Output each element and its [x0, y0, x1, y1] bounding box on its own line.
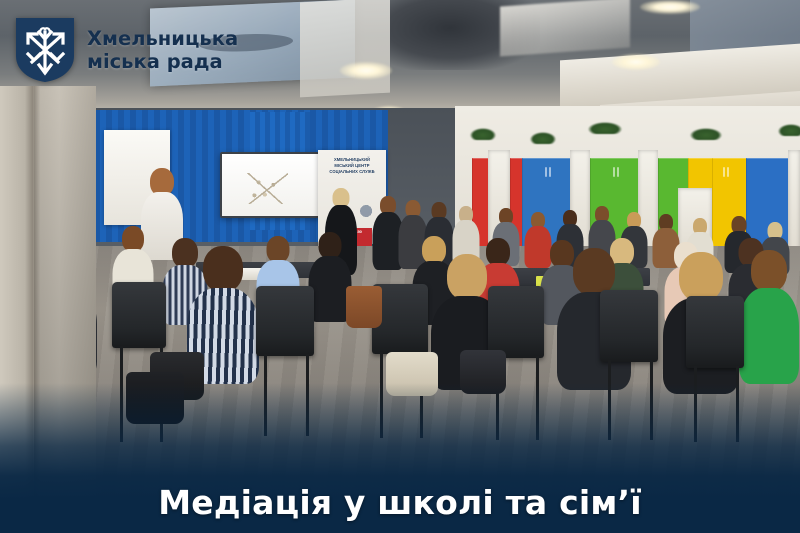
brand-name-line2: міська рада: [87, 50, 238, 73]
door-frame: [0, 86, 96, 533]
plant-icon: [530, 132, 556, 144]
ceiling-light-icon: [340, 62, 392, 79]
handbag-brown: [346, 286, 382, 328]
ceiling-light-icon: [640, 0, 700, 14]
chair-leg: [608, 360, 611, 440]
rollup-banner-text: Хмельницький міський центр соціальних сл…: [324, 157, 380, 175]
chair-leg: [650, 360, 653, 440]
backpack-black: [126, 372, 184, 424]
plant-icon: [690, 128, 722, 140]
chair-leg: [306, 354, 309, 436]
chair: [112, 282, 166, 348]
slide-diagram: [246, 173, 288, 204]
handbag-cream: [386, 352, 438, 396]
chair: [686, 296, 744, 368]
brand-name-line1: Хмельницька: [87, 27, 238, 50]
chair-leg: [736, 366, 739, 442]
brand-name: Хмельницька міська рада: [87, 27, 238, 73]
social-card: Хмельницький міський центр соціальних сл…: [0, 0, 800, 533]
person-foreground: [738, 250, 800, 382]
chair-leg: [536, 356, 539, 440]
plant-icon: [588, 122, 622, 134]
presentation-screen: [220, 152, 324, 218]
title-banner: Медіація у школі та сім’ї: [0, 471, 800, 533]
plant-icon: [470, 128, 496, 140]
chair-leg: [264, 354, 267, 436]
plant-icon: [778, 124, 800, 136]
chair-leg: [380, 352, 383, 438]
chair-leg: [120, 346, 123, 442]
handbag-black: [460, 350, 506, 394]
khmelnytskyi-shield-arrows-icon: [14, 16, 76, 84]
chair: [256, 286, 314, 356]
ceiling-reflection-banner: [300, 0, 390, 97]
door-frame-inner: [34, 86, 96, 533]
chair-leg: [694, 366, 697, 442]
chair: [600, 290, 658, 362]
chair: [488, 286, 544, 358]
brand-lockup: Хмельницька міська рада: [14, 16, 238, 84]
ceiling-light-icon: [612, 54, 660, 70]
page-title: Медіація у школі та сім’ї: [158, 483, 642, 522]
ceiling-reflection-papers: [500, 0, 630, 57]
